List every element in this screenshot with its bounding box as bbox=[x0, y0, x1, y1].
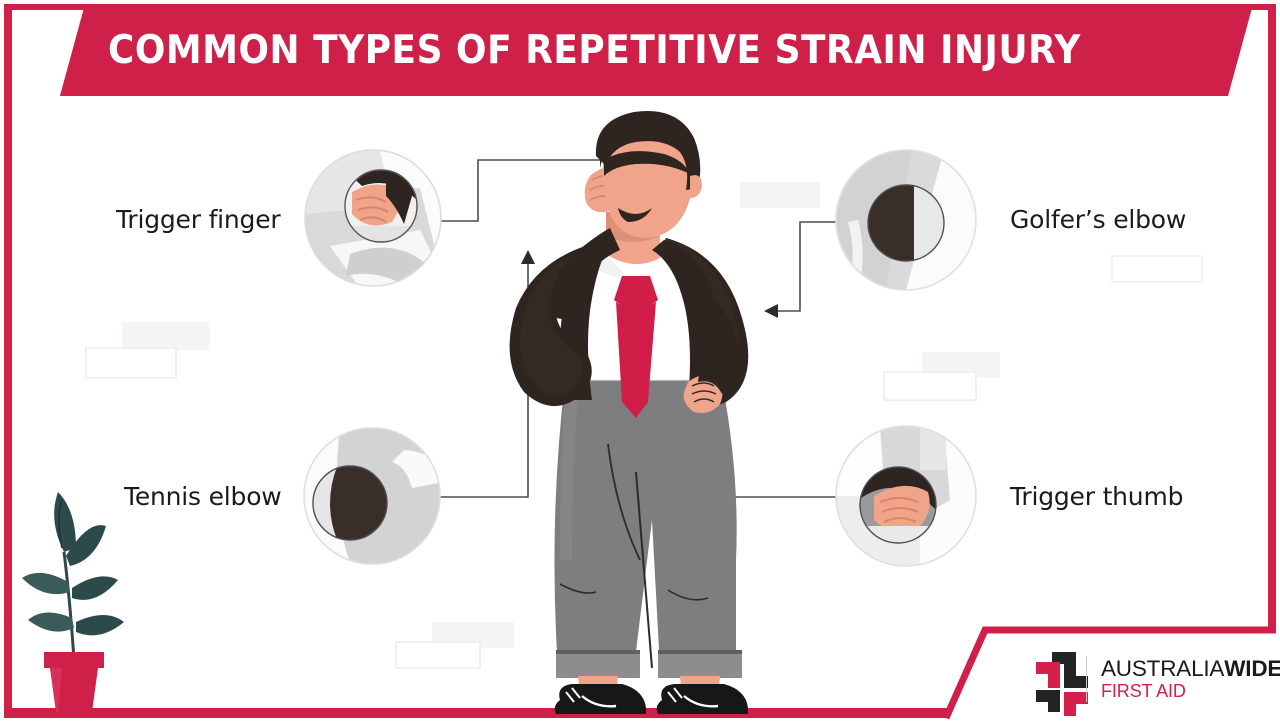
magnifier-tennis-elbow bbox=[304, 428, 444, 572]
connector-golfers-elbow bbox=[772, 222, 836, 311]
logo-text-australia: AUSTRALIA bbox=[1101, 656, 1224, 681]
label-trigger-thumb: Trigger thumb bbox=[1010, 482, 1183, 511]
logo-text-first-aid: FIRST AID bbox=[1101, 682, 1280, 701]
label-trigger-finger: Trigger finger bbox=[116, 205, 281, 234]
logo-divider bbox=[1086, 656, 1087, 702]
brand-logo: AUSTRALIAWIDE FIRST AID bbox=[1020, 648, 1270, 710]
infographic-canvas: COMMON TYPES OF REPETITIVE STRAIN INJURY… bbox=[0, 0, 1280, 724]
arrowhead-golfers-elbow bbox=[764, 304, 778, 318]
magnifier-trigger-thumb bbox=[836, 426, 976, 566]
magnifier-golfers-elbow bbox=[836, 150, 976, 290]
logo-line-australiawide: AUSTRALIAWIDE bbox=[1101, 657, 1280, 681]
illustration-businessman bbox=[510, 111, 749, 714]
magnifier-trigger-finger bbox=[300, 150, 448, 300]
artwork-layer bbox=[0, 0, 1280, 724]
logo-text-wide: WIDE bbox=[1224, 656, 1280, 681]
page-title: COMMON TYPES OF REPETITIVE STRAIN INJURY bbox=[108, 24, 1083, 76]
logo-mark-spacer bbox=[1020, 653, 1072, 705]
logo-wordmark: AUSTRALIAWIDE FIRST AID bbox=[1101, 657, 1280, 702]
arrowhead-tennis-elbow bbox=[521, 250, 535, 264]
illustration-potted-plant bbox=[22, 492, 124, 712]
label-tennis-elbow: Tennis elbow bbox=[124, 482, 282, 511]
label-golfers-elbow: Golfer’s elbow bbox=[1010, 205, 1186, 234]
connector-trigger-finger bbox=[441, 160, 610, 221]
connector-tennis-elbow bbox=[440, 258, 528, 497]
